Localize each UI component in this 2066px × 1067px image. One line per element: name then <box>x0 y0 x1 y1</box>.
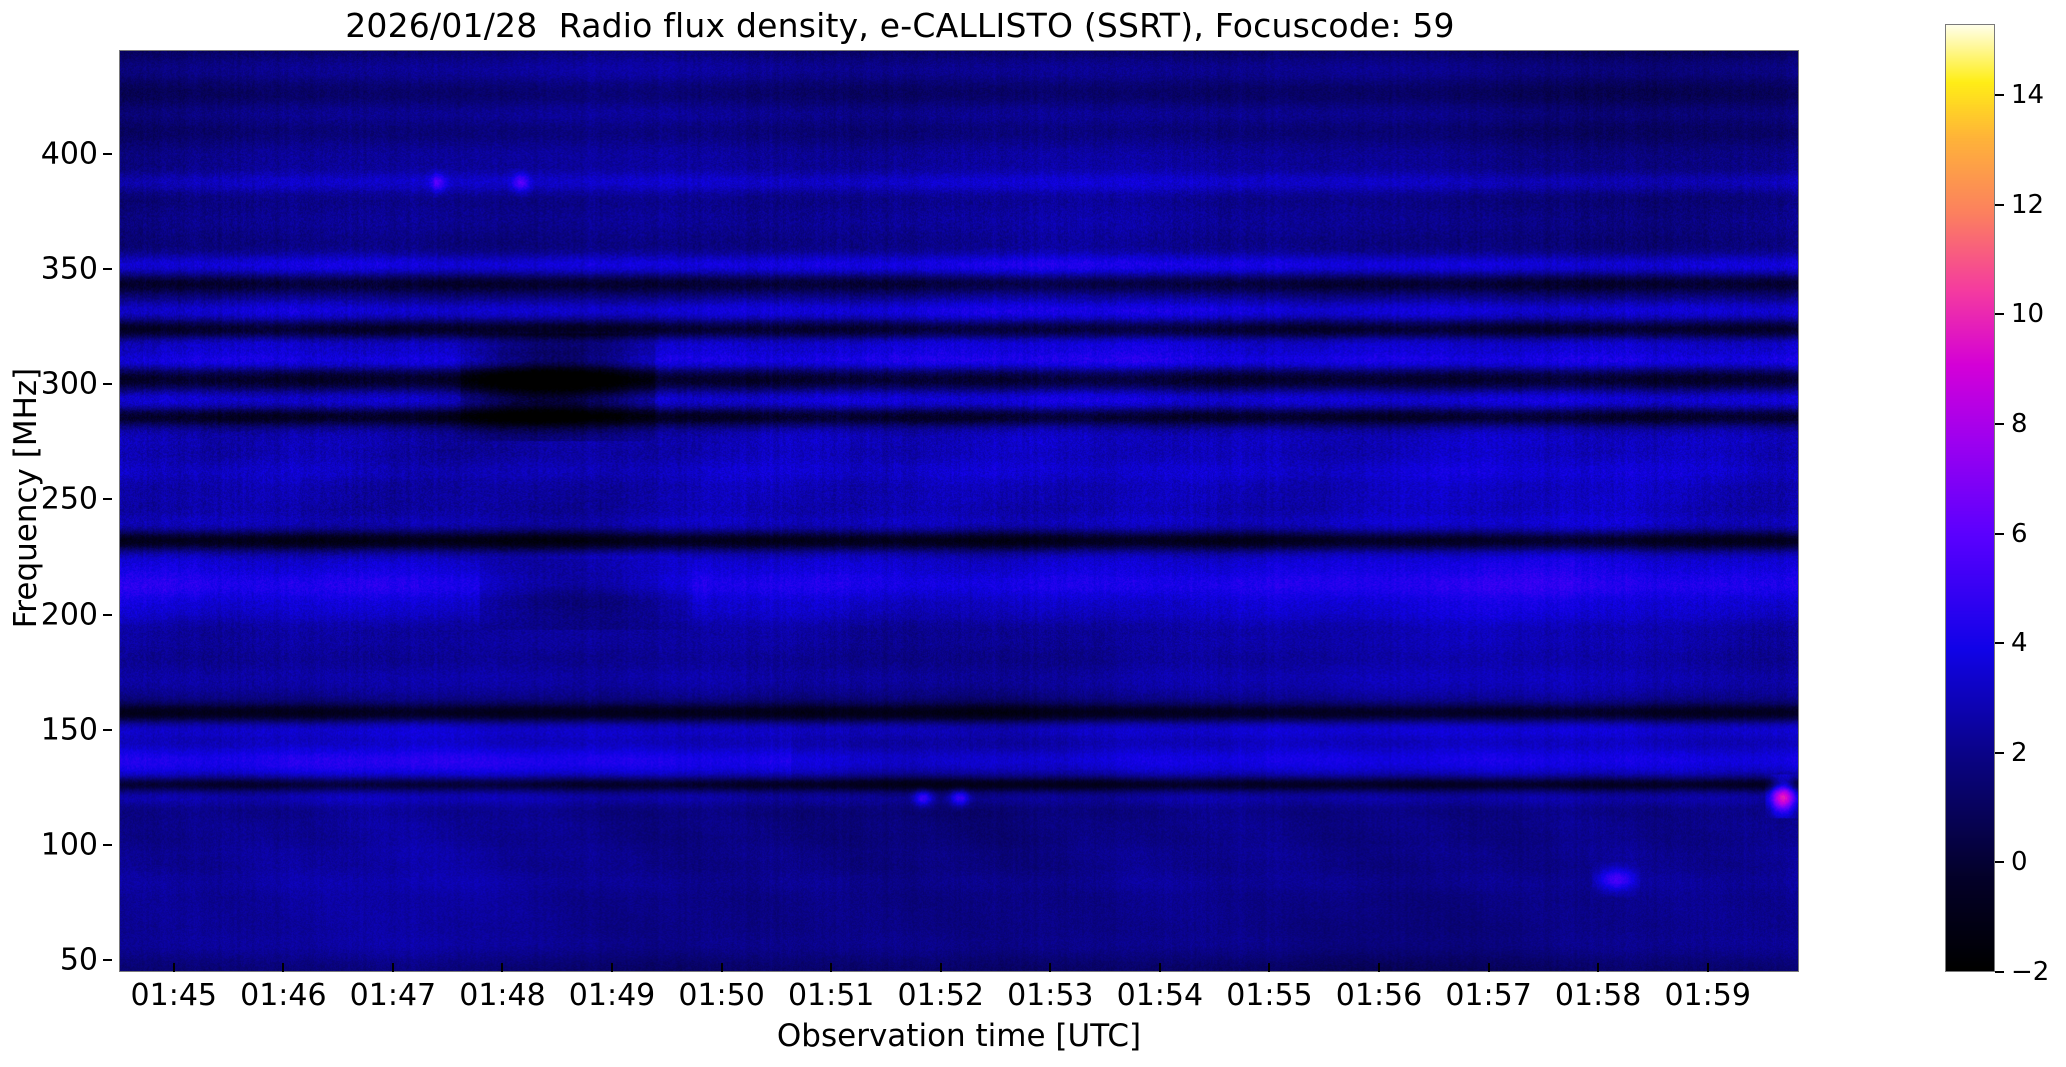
spectrogram-plot-area[interactable] <box>119 50 1799 972</box>
x-axis-tick-label: 01:59 <box>1664 978 1750 1013</box>
colorbar-tick <box>1995 971 2004 973</box>
colorbar-tick-label: −2 <box>2011 957 2049 987</box>
y-axis-label: Frequency [MHz] <box>8 37 44 959</box>
colorbar-tick-label: 6 <box>2011 519 2028 549</box>
colorbar-ticks: −202468101214 <box>1995 24 2065 972</box>
x-axis-tick <box>1159 963 1161 972</box>
colorbar-tick-label: 8 <box>2011 409 2028 439</box>
x-axis-tick <box>173 963 175 972</box>
x-axis-tick <box>1488 963 1490 972</box>
x-axis-tick-label: 01:51 <box>788 978 874 1013</box>
x-axis-tick <box>1049 963 1051 972</box>
colorbar-tick <box>1995 313 2004 315</box>
y-axis-tick <box>103 614 112 616</box>
colorbar-tick-label: 14 <box>2011 80 2044 110</box>
colorbar-gradient <box>1946 25 1994 971</box>
colorbar-tick <box>1995 423 2004 425</box>
x-axis-tick <box>1707 963 1709 972</box>
colorbar-tick-label: 10 <box>2011 299 2044 329</box>
colorbar-tick-label: 4 <box>2011 628 2028 658</box>
x-axis-tick-label: 01:52 <box>898 978 984 1013</box>
y-axis-tick-label: 350 <box>41 251 98 286</box>
colorbar-tick <box>1995 752 2004 754</box>
x-axis-tick <box>392 963 394 972</box>
y-axis-tick <box>103 844 112 846</box>
colorbar-tick-label: 2 <box>2011 738 2028 768</box>
y-axis-tick <box>103 959 112 961</box>
y-axis-tick <box>103 153 112 155</box>
x-axis-tick-label: 01:45 <box>131 978 217 1013</box>
colorbar-tick <box>1995 861 2004 863</box>
y-axis-tick-label: 400 <box>41 136 98 171</box>
x-axis-tick <box>1268 963 1270 972</box>
x-axis-tick-label: 01:48 <box>459 978 545 1013</box>
y-axis-tick-label: 300 <box>41 367 98 402</box>
colorbar-tick <box>1995 642 2004 644</box>
spectrogram-image <box>120 51 1798 971</box>
y-axis-tick <box>103 268 112 270</box>
y-axis-tick-label: 150 <box>41 712 98 747</box>
x-axis-tick-label: 01:55 <box>1226 978 1312 1013</box>
x-axis-tick-label: 01:49 <box>569 978 655 1013</box>
y-axis-tick-label: 100 <box>41 828 98 863</box>
x-axis-tick-label: 01:47 <box>350 978 436 1013</box>
x-axis-tick <box>1597 963 1599 972</box>
x-axis-tick-label: 01:50 <box>678 978 764 1013</box>
page-title: 2026/01/28 Radio flux density, e-CALLIST… <box>0 6 1800 45</box>
x-axis-tick <box>830 963 832 972</box>
x-axis-tick-label: 01:56 <box>1336 978 1422 1013</box>
x-axis-tick-label: 01:53 <box>1007 978 1093 1013</box>
colorbar-tick-label: 0 <box>2011 847 2028 877</box>
y-axis-tick <box>103 498 112 500</box>
colorbar-tick-label: 12 <box>2011 190 2044 220</box>
x-axis-tick <box>721 963 723 972</box>
x-axis-tick <box>940 963 942 972</box>
x-axis-tick-label: 01:58 <box>1555 978 1641 1013</box>
y-axis-tick-label: 50 <box>60 943 98 978</box>
x-axis-tick <box>501 963 503 972</box>
colorbar <box>1945 24 1995 972</box>
x-axis-tick <box>611 963 613 972</box>
x-axis-tick <box>1378 963 1380 972</box>
colorbar-tick <box>1995 533 2004 535</box>
x-axis-tick <box>282 963 284 972</box>
x-axis-tick-label: 01:57 <box>1445 978 1531 1013</box>
y-axis-tick-label: 250 <box>41 482 98 517</box>
x-axis-tick-label: 01:46 <box>240 978 326 1013</box>
y-axis-tick <box>103 383 112 385</box>
colorbar-tick <box>1995 94 2004 96</box>
colorbar-tick <box>1995 204 2004 206</box>
x-axis-label: Observation time [UTC] <box>119 1018 1799 1054</box>
x-axis-tick-label: 01:54 <box>1117 978 1203 1013</box>
y-axis-tick-label: 200 <box>41 597 98 632</box>
radio-spectrogram-figure: 2026/01/28 Radio flux density, e-CALLIST… <box>0 0 2066 1067</box>
y-axis-tick <box>103 729 112 731</box>
